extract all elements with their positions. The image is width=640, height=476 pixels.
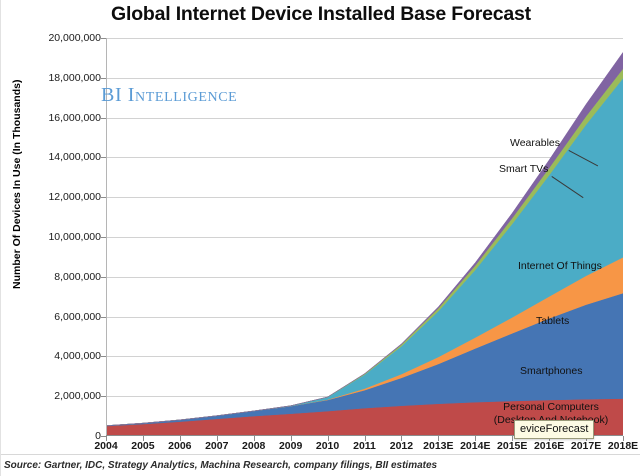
series-label-wearables: Wearables bbox=[510, 137, 560, 149]
series-label-smart-tvs: Smart TVs bbox=[499, 163, 548, 175]
y-axis-tick-label: 6,000,000 bbox=[9, 311, 101, 323]
y-axis-tick-label: 4,000,000 bbox=[9, 350, 101, 362]
y-axis-tick-label: 18,000,000 bbox=[9, 72, 101, 84]
x-axis-tick-mark bbox=[475, 436, 476, 441]
x-axis-tick-mark bbox=[623, 436, 624, 441]
series-label-tablets: Tablets bbox=[536, 315, 569, 327]
series-label-smartphones: Smartphones bbox=[520, 365, 582, 377]
x-axis-tick-mark bbox=[217, 436, 218, 441]
x-axis-tick-mark bbox=[328, 436, 329, 441]
y-axis-tick-label: 12,000,000 bbox=[9, 191, 101, 203]
footer-divider bbox=[1, 454, 640, 455]
x-axis-tick-mark bbox=[180, 436, 181, 441]
source-note: Source: Gartner, IDC, Strategy Analytics… bbox=[4, 460, 437, 471]
y-axis-tick-labels: 02,000,0004,000,0006,000,0008,000,00010,… bbox=[1, 0, 101, 476]
y-axis-tick-label: 20,000,000 bbox=[9, 32, 101, 44]
bi-intelligence-watermark: BI Intelligence bbox=[101, 84, 237, 107]
x-axis-tick-label: 2018E bbox=[600, 440, 640, 452]
chart-screenshot: Global Internet Device Installed Base Fo… bbox=[0, 0, 640, 476]
series-label-personal-computers: Personal Computers bbox=[467, 401, 635, 414]
y-axis-tick-label: 16,000,000 bbox=[9, 112, 101, 124]
y-axis-tick-label: 8,000,000 bbox=[9, 271, 101, 283]
x-axis-tick-mark bbox=[401, 436, 402, 441]
x-axis-tick-mark bbox=[143, 436, 144, 441]
y-axis-tick-label: 14,000,000 bbox=[9, 151, 101, 163]
x-axis-tick-mark bbox=[438, 436, 439, 441]
x-axis-tick-mark bbox=[365, 436, 366, 441]
x-axis-tick-mark bbox=[254, 436, 255, 441]
x-axis-tick-mark bbox=[106, 436, 107, 441]
series-label-internet-of-things: Internet Of Things bbox=[518, 260, 602, 272]
tooltip: eviceForecast bbox=[514, 420, 594, 439]
y-axis-tick-label: 10,000,000 bbox=[9, 231, 101, 243]
x-axis-tick-mark bbox=[291, 436, 292, 441]
y-axis-tick-label: 2,000,000 bbox=[9, 390, 101, 402]
